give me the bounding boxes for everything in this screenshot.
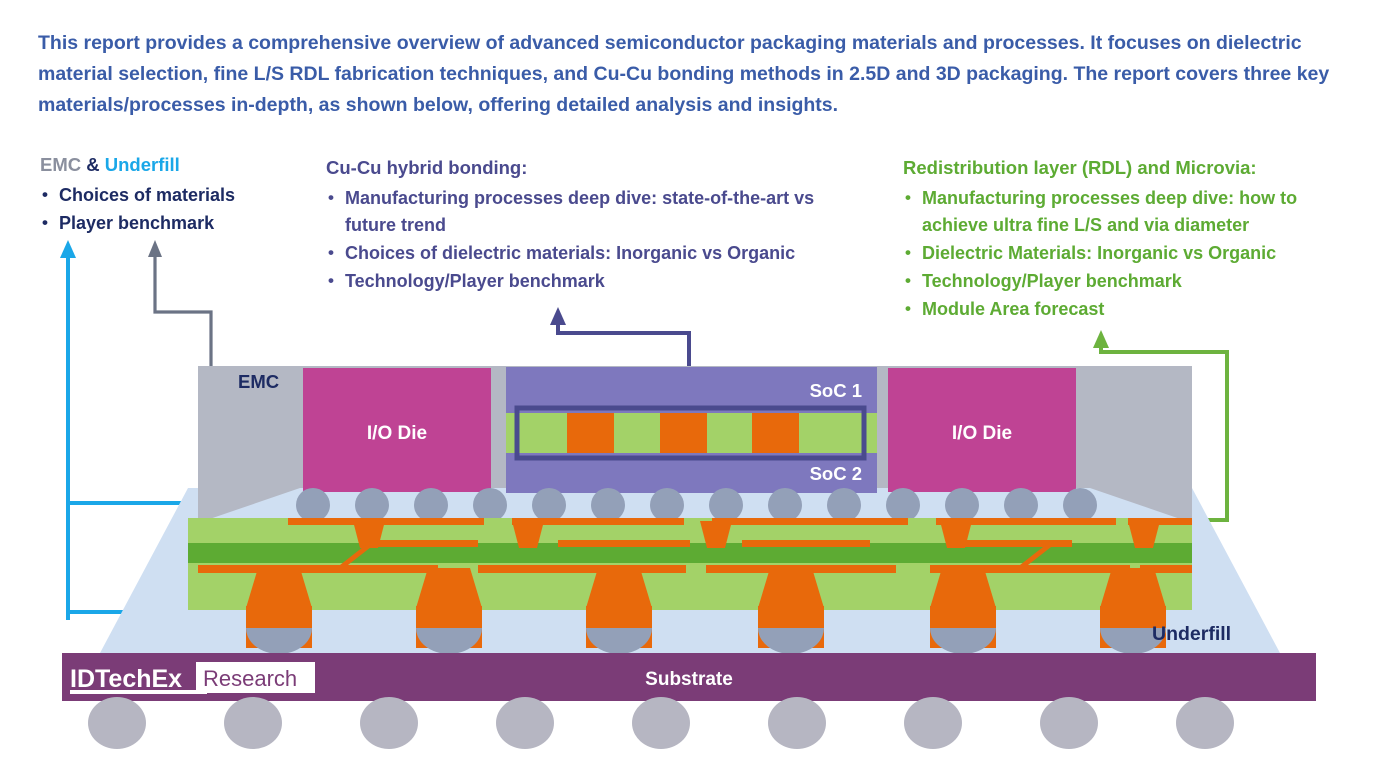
bga-ball-row [88, 697, 1234, 749]
rdl-traces-upper [288, 518, 1192, 525]
logo-brand-text: IDTechEx [70, 665, 182, 693]
io-die-left-label: I/O Die [367, 423, 427, 444]
underfill-label: Underfill [1152, 623, 1231, 645]
soc1-label: SoC 1 [810, 380, 862, 401]
rdl-stack [188, 518, 1192, 610]
soc2-label: SoC 2 [810, 463, 862, 484]
io-die-right-label: I/O Die [952, 423, 1012, 444]
logo-suffix-text: Research [203, 666, 297, 691]
substrate-label: Substrate [645, 669, 733, 690]
package-cross-section-diagram: EMC I/O Die I/O Die SoC 1 SoC 2 [0, 0, 1379, 776]
emc-label: EMC [238, 371, 279, 392]
hybrid-bonding-interface [506, 413, 877, 453]
